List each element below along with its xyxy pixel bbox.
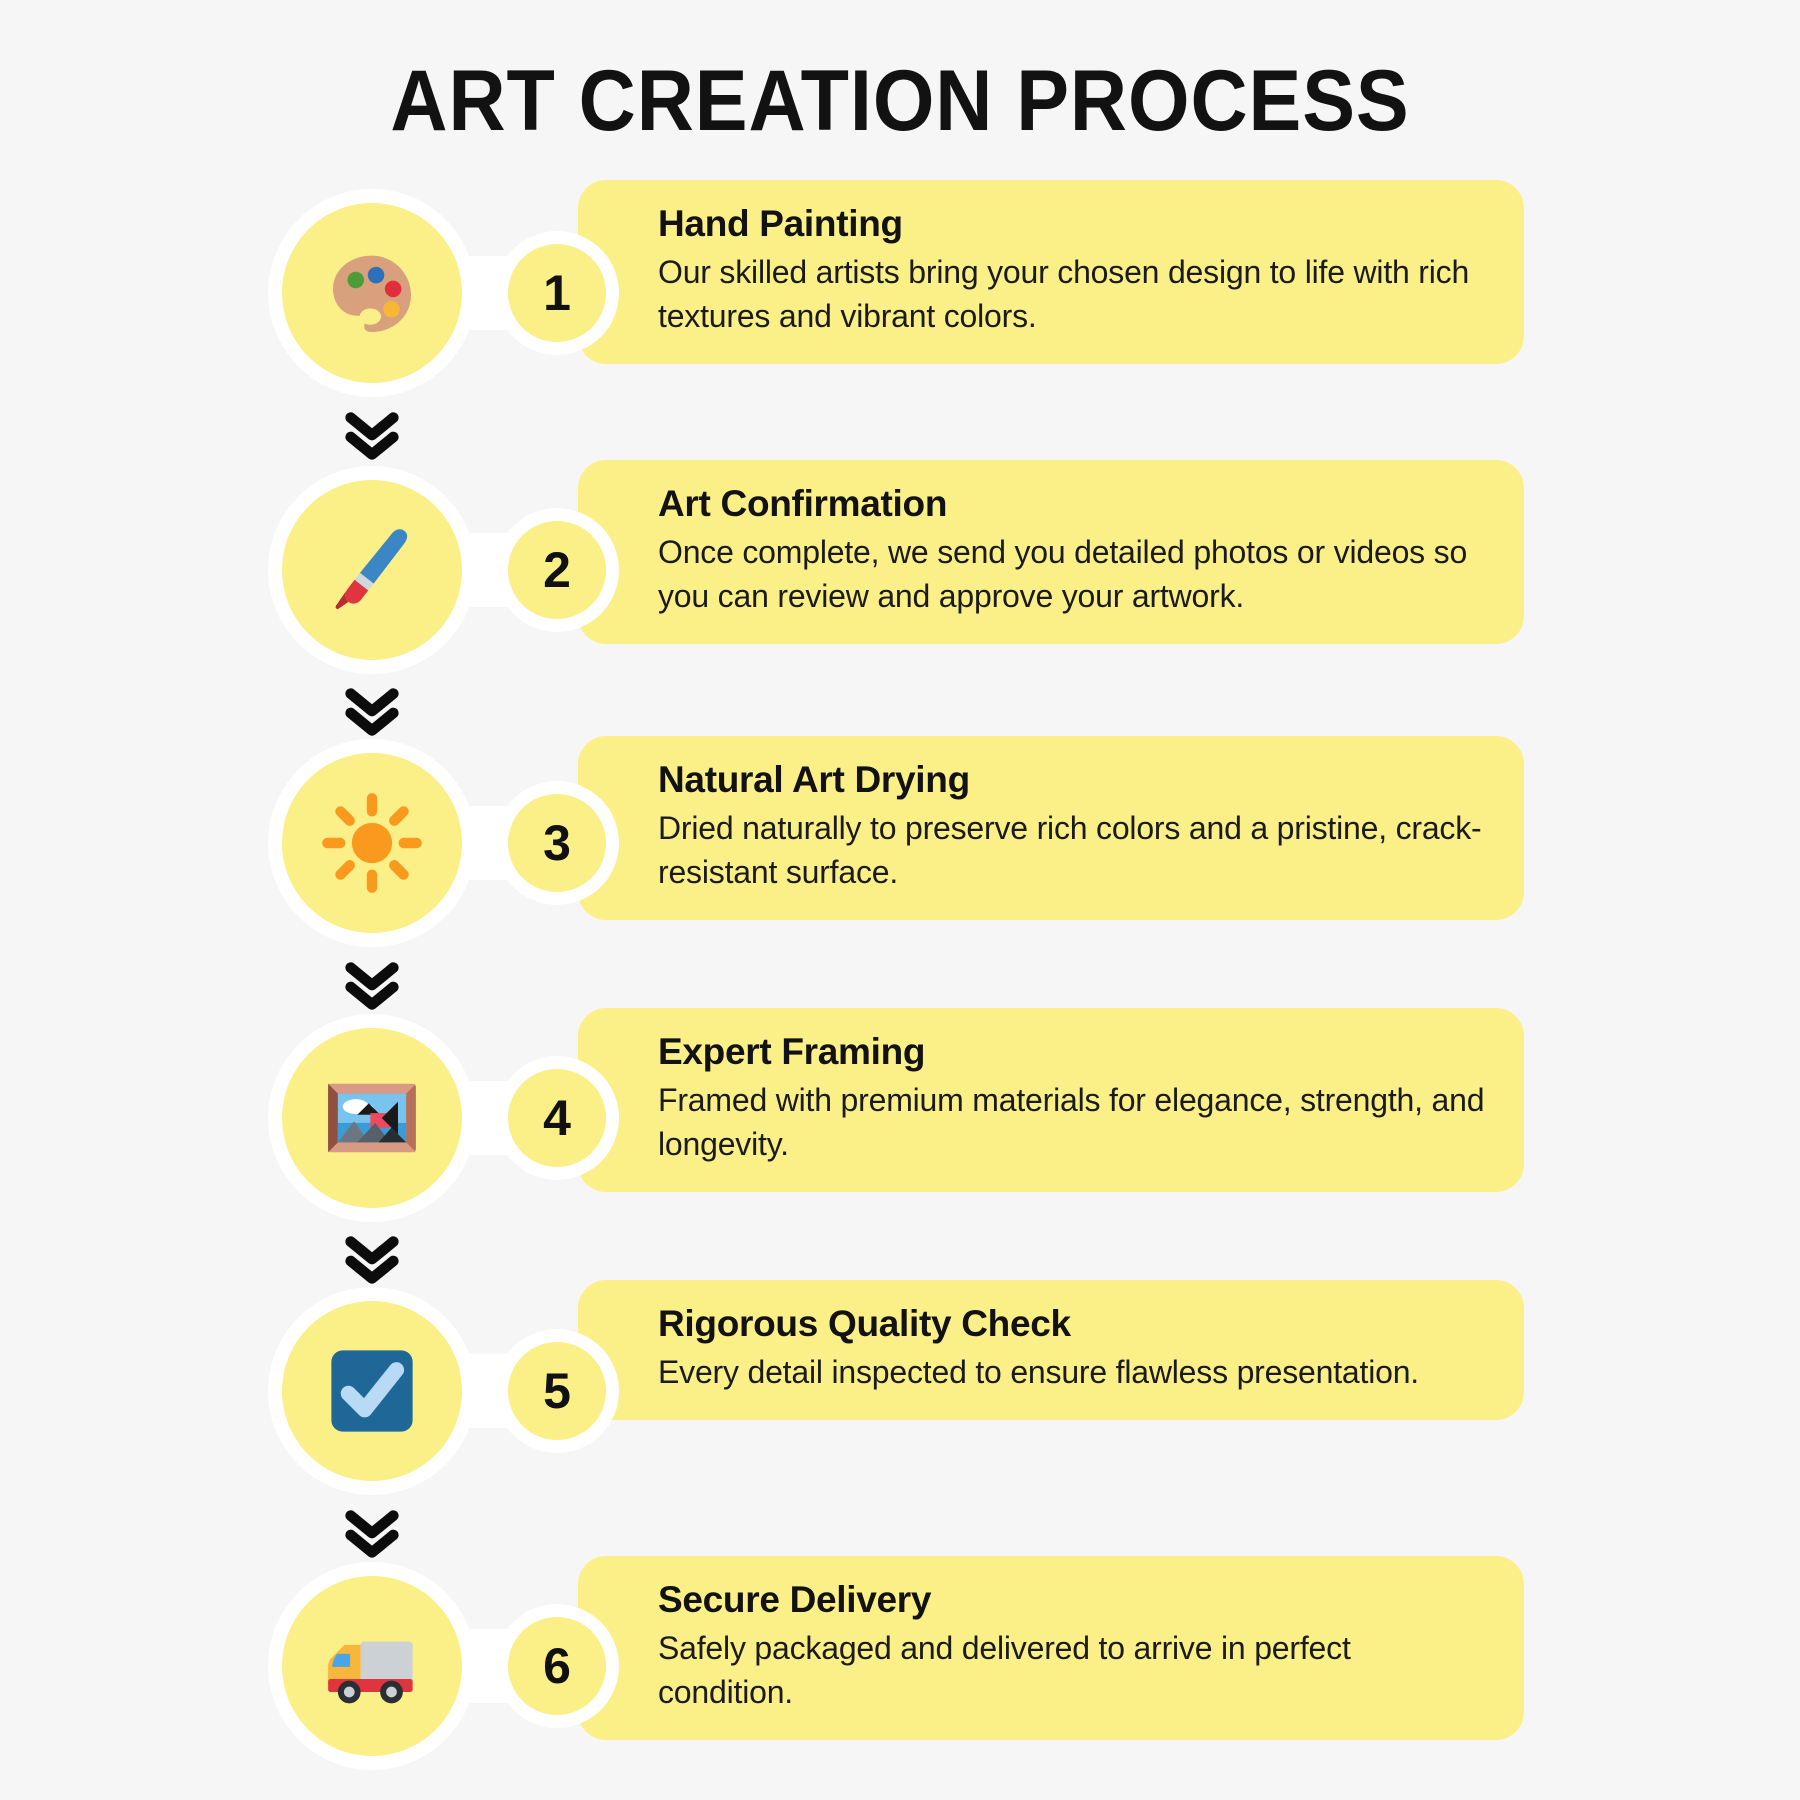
step-icon-bubble-2[interactable]: [282, 480, 462, 660]
step-icon-bubble-1[interactable]: [282, 203, 462, 383]
step-card-1[interactable]: Hand Painting Our skilled artists bring …: [578, 180, 1524, 364]
step-number-4: 4: [508, 1069, 606, 1167]
step-number-2: 2: [508, 521, 606, 619]
step-title: Rigorous Quality Check: [658, 1302, 1486, 1346]
step-separator-chevron-2: [341, 682, 403, 744]
step-separator-chevron-1: [341, 406, 403, 468]
delivery-truck-icon: [320, 1614, 424, 1718]
step-title: Expert Framing: [658, 1030, 1486, 1074]
step-icon-bubble-4[interactable]: [282, 1028, 462, 1208]
step-card-6[interactable]: Secure Delivery Safely packaged and deli…: [578, 1556, 1524, 1740]
step-separator-chevron-5: [341, 1504, 403, 1566]
step-separator-chevron-4: [341, 1230, 403, 1292]
process-steps-list: Hand Painting Our skilled artists bring …: [0, 196, 1800, 1766]
artist-palette-icon: [320, 241, 424, 345]
step-description: Framed with premium materials for elegan…: [658, 1078, 1486, 1166]
step-card-5[interactable]: Rigorous Quality Check Every detail insp…: [578, 1280, 1524, 1420]
step-row-4: Expert Framing Framed with premium mater…: [0, 1018, 1800, 1236]
check-mark-box-icon: [320, 1339, 424, 1443]
step-description: Every detail inspected to ensure flawles…: [658, 1350, 1486, 1394]
step-description: Dried naturally to preserve rich colors …: [658, 806, 1486, 894]
step-icon-bubble-3[interactable]: [282, 753, 462, 933]
step-icon-bubble-5[interactable]: [282, 1301, 462, 1481]
step-separator-chevron-3: [341, 956, 403, 1018]
step-description: Once complete, we send you detailed phot…: [658, 530, 1486, 618]
step-card-3[interactable]: Natural Art Drying Dried naturally to pr…: [578, 736, 1524, 920]
framed-picture-icon: [320, 1066, 424, 1170]
step-row-2: Art Confirmation Once complete, we send …: [0, 468, 1800, 686]
step-description: Safely packaged and delivered to arrive …: [658, 1626, 1486, 1714]
paintbrush-icon: [320, 518, 424, 622]
step-card-2[interactable]: Art Confirmation Once complete, we send …: [578, 460, 1524, 644]
step-number-3: 3: [508, 794, 606, 892]
step-icon-bubble-6[interactable]: [282, 1576, 462, 1756]
step-title: Secure Delivery: [658, 1578, 1486, 1622]
step-title: Art Confirmation: [658, 482, 1486, 526]
step-number-1: 1: [508, 244, 606, 342]
step-row-5: Rigorous Quality Check Every detail insp…: [0, 1292, 1800, 1510]
sun-icon: [320, 791, 424, 895]
step-row-1: Hand Painting Our skilled artists bring …: [0, 196, 1800, 414]
step-row-3: Natural Art Drying Dried naturally to pr…: [0, 744, 1800, 962]
page-title: ART CREATION PROCESS: [72, 52, 1728, 151]
step-number-6: 6: [508, 1617, 606, 1715]
step-description: Our skilled artists bring your chosen de…: [658, 250, 1486, 338]
step-number-5: 5: [508, 1342, 606, 1440]
step-title: Natural Art Drying: [658, 758, 1486, 802]
step-title: Hand Painting: [658, 202, 1486, 246]
step-card-4[interactable]: Expert Framing Framed with premium mater…: [578, 1008, 1524, 1192]
